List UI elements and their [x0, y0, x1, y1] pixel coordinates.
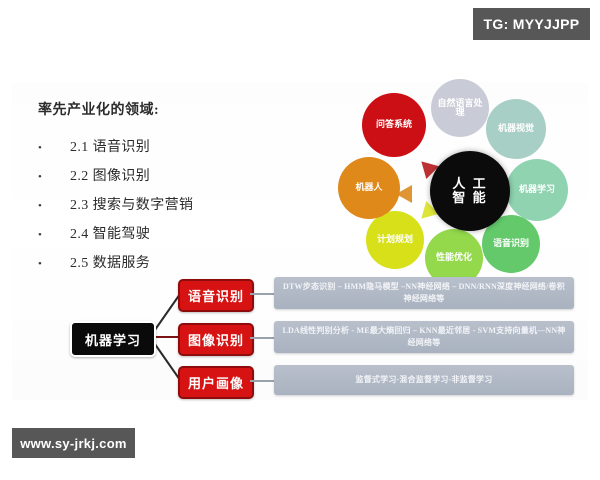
- list-item: • 2.4 智能驾驶: [38, 223, 273, 243]
- flow-root-node[interactable]: 机器学习: [70, 321, 156, 357]
- diagram-node-label: 机器人: [349, 183, 388, 192]
- flow-detail-box-image[interactable]: LDA线性判别分析 - ME最大熵回归 – KNN最近邻居 - SVM支持向量机…: [274, 321, 574, 353]
- topic-text-block: 率先产业化的领域: • 2.1 语音识别 • 2.2 图像识别 • 2.3 搜索…: [38, 99, 273, 281]
- diagram-node-label: 问答系统: [370, 120, 418, 129]
- diagram-node-planning[interactable]: 计划规划: [366, 211, 424, 269]
- flow-detail-text: LDA线性判别分析 - ME最大熵回归 – KNN最近邻居 - SVM支持向量机…: [280, 325, 568, 348]
- diagram-node-robotics[interactable]: 机器人: [338, 157, 400, 219]
- slide-content-panel: 率先产业化的领域: • 2.1 语音识别 • 2.2 图像识别 • 2.3 搜索…: [12, 82, 588, 400]
- telegram-watermark-badge: TG: MYYJJPP: [473, 8, 590, 40]
- bullet-label: 2.4 智能驾驶: [50, 223, 150, 243]
- bullet-label: 2.5 数据服务: [50, 252, 150, 272]
- bullet-label: 2.1 语音识别: [50, 136, 150, 156]
- bullet-label: 2.3 搜索与数字营销: [50, 194, 193, 214]
- bullet-marker-icon: •: [38, 172, 50, 183]
- ai-radial-diagram: 自然语言处理 机器视觉 机器学习 语音识别 性能优化 计划规划 机器人 问答系: [334, 77, 600, 287]
- bullet-marker-icon: •: [38, 230, 50, 241]
- flow-detail-text: DTW步态识别 – HMM隐马模型 –NN神经网络 – DNN/RNN深度神经网…: [280, 281, 568, 304]
- flow-connector-line: [250, 337, 275, 339]
- diagram-node-machine-vision[interactable]: 机器视觉: [486, 99, 546, 159]
- diagram-node-machine-learning[interactable]: 机器学习: [506, 159, 568, 221]
- flow-connector-line: [250, 293, 275, 295]
- flow-branch-node-image[interactable]: 图像识别: [178, 323, 254, 356]
- slide-heading: 率先产业化的领域:: [38, 99, 273, 119]
- diagram-center-line-1: 人 工: [446, 177, 493, 191]
- flow-branch-node-speech[interactable]: 语音识别: [178, 279, 254, 312]
- diagram-node-label: 性能优化: [430, 253, 478, 262]
- flow-root-label: 机器学习: [85, 330, 141, 349]
- telegram-watermark-text: TG: MYYJJPP: [484, 16, 580, 32]
- diagram-node-label: 机器视觉: [492, 124, 540, 133]
- diagram-node-label: 计划规划: [371, 235, 419, 244]
- bullet-marker-icon: •: [38, 143, 50, 154]
- flow-detail-box-user-profile[interactable]: 监督式学习-混合监督学习-非监督学习: [274, 365, 574, 395]
- topic-bullet-list: • 2.1 语音识别 • 2.2 图像识别 • 2.3 搜索与数字营销 • 2.…: [38, 136, 273, 272]
- list-item: • 2.1 语音识别: [38, 136, 273, 156]
- list-item: • 2.5 数据服务: [38, 252, 273, 272]
- flow-detail-box-speech[interactable]: DTW步态识别 – HMM隐马模型 –NN神经网络 – DNN/RNN深度神经网…: [274, 277, 574, 309]
- diagram-center-node-ai[interactable]: 人 工 智 能: [430, 151, 510, 231]
- bullet-label: 2.2 图像识别: [50, 165, 150, 185]
- machine-learning-flowchart: 机器学习 语音识别 图像识别 用户画像 DTW步态识别 – HMM隐马模型 –N…: [62, 277, 592, 397]
- bullet-marker-icon: •: [38, 259, 50, 270]
- bullet-marker-icon: •: [38, 201, 50, 212]
- flow-connector-line: [250, 380, 275, 382]
- list-item: • 2.3 搜索与数字营销: [38, 194, 273, 214]
- diagram-node-qa-system[interactable]: 问答系统: [362, 93, 426, 157]
- diagram-node-nlp[interactable]: 自然语言处理: [431, 79, 489, 137]
- list-item: • 2.2 图像识别: [38, 165, 273, 185]
- diagram-center-line-2: 智 能: [446, 191, 493, 205]
- flow-branch-label: 语音识别: [188, 286, 244, 305]
- website-watermark-badge: www.sy-jrkj.com: [12, 428, 135, 458]
- diagram-node-label: 机器学习: [513, 185, 561, 194]
- diagram-node-label: 语音识别: [487, 239, 535, 248]
- slide-canvas: TG: MYYJJPP 率先产业化的领域: • 2.1 语音识别 • 2.2 图…: [0, 0, 600, 480]
- diagram-node-label: 自然语言处理: [431, 99, 489, 118]
- flow-detail-text: 监督式学习-混合监督学习-非监督学习: [356, 374, 493, 386]
- flow-branch-node-user-profile[interactable]: 用户画像: [178, 366, 254, 399]
- flow-branch-label: 用户画像: [188, 373, 244, 392]
- flow-branch-label: 图像识别: [188, 330, 244, 349]
- website-watermark-text: www.sy-jrkj.com: [20, 436, 127, 451]
